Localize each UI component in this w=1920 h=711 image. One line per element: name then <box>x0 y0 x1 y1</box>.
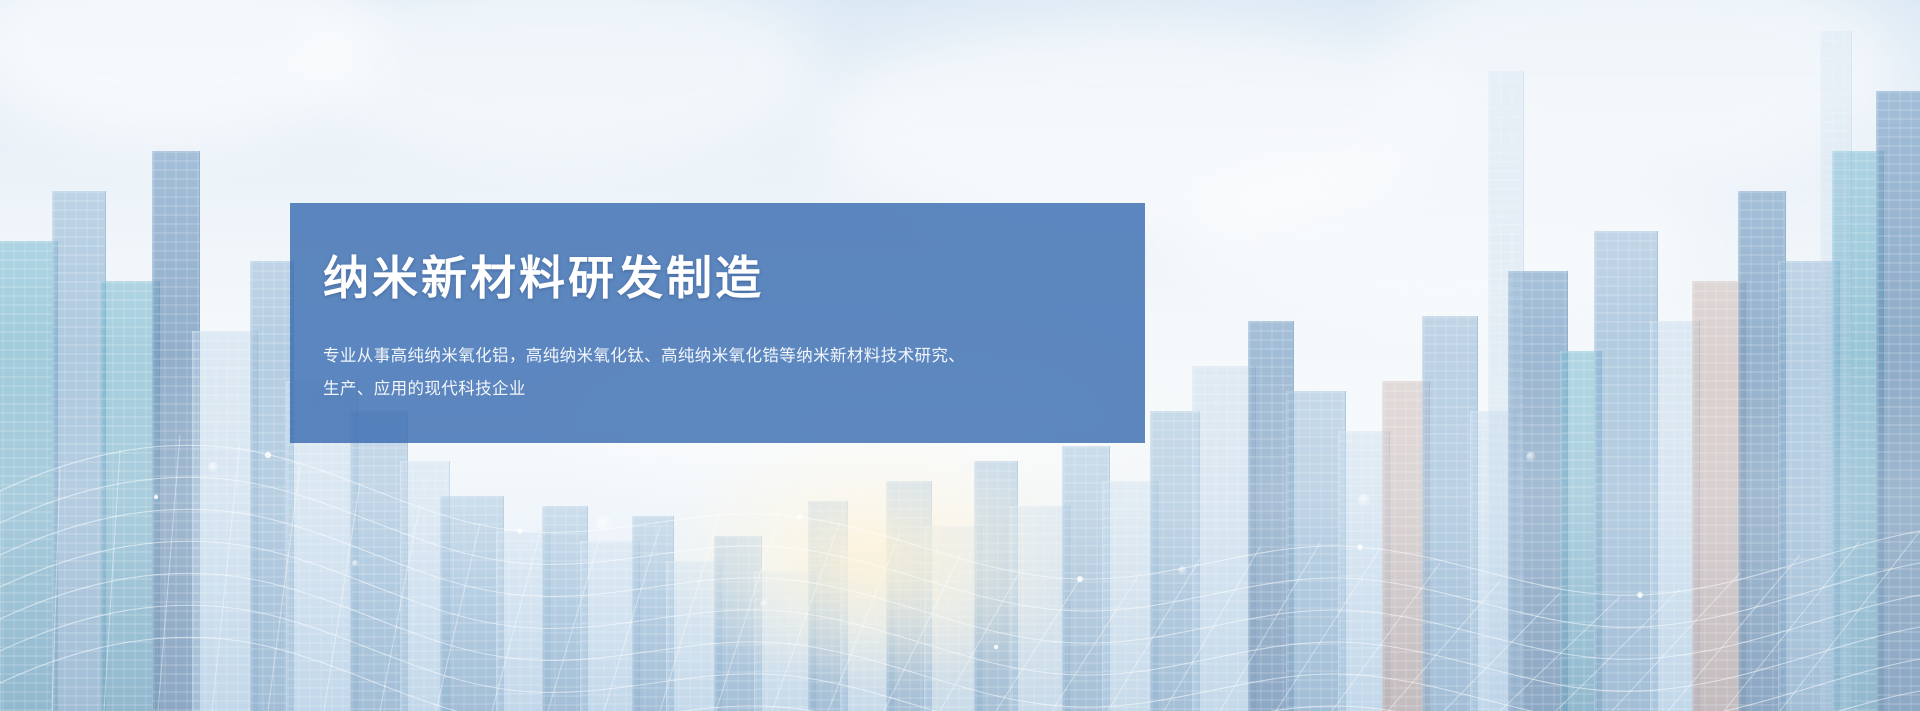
hero-subtitle-line: 生产、应用的现代科技企业 <box>323 373 1123 406</box>
hero-banner: 纳米新材料研发制造 专业从事高纯纳米氧化铝，高纯纳米氧化钛、高纯纳米氧化锆等纳米… <box>0 0 1920 711</box>
hero-subtitle-line: 专业从事高纯纳米氧化铝，高纯纳米氧化钛、高纯纳米氧化锆等纳米新材料技术研究、 <box>323 340 1123 373</box>
hero-subtitle: 专业从事高纯纳米氧化铝，高纯纳米氧化钛、高纯纳米氧化锆等纳米新材料技术研究、 生… <box>323 340 1123 406</box>
hero-text-panel: 纳米新材料研发制造 专业从事高纯纳米氧化铝，高纯纳米氧化钛、高纯纳米氧化锆等纳米… <box>290 203 1145 443</box>
page-title: 纳米新材料研发制造 <box>323 253 1145 304</box>
